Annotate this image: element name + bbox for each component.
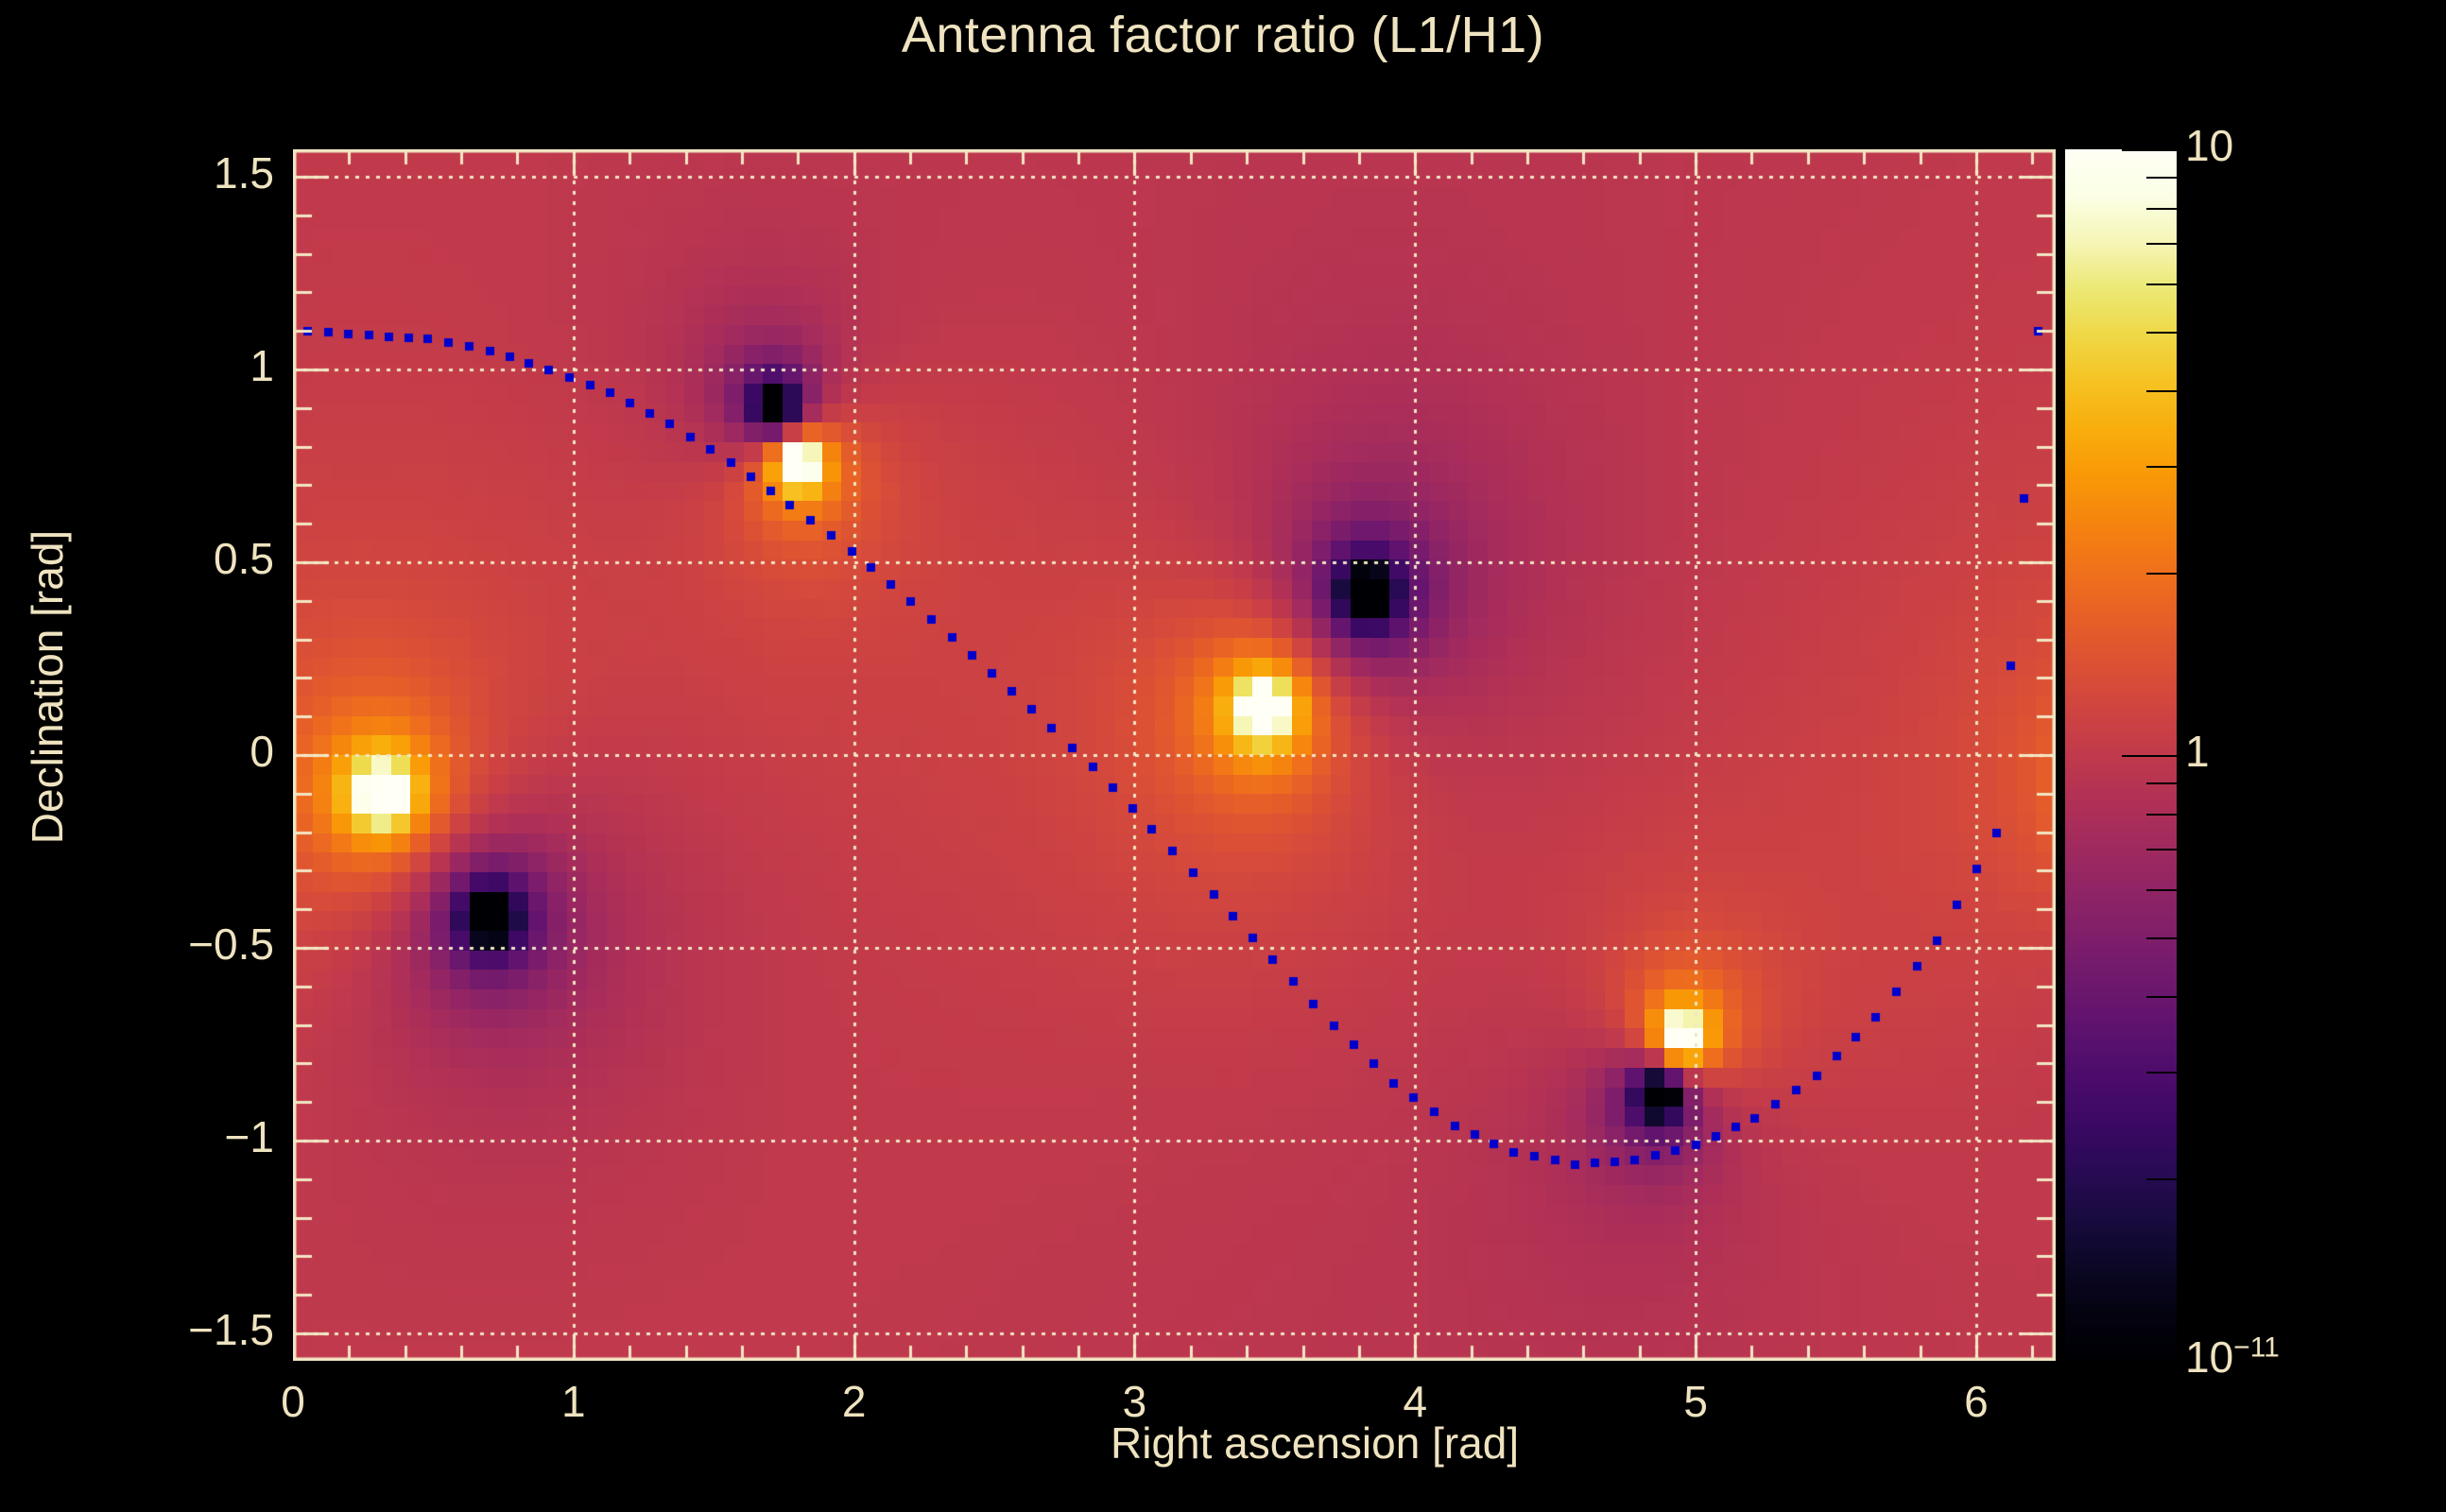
colorbar-ticks [2065,149,2177,1361]
colorbar-minor-tick [2146,466,2177,468]
colorbar-minor-tick [2146,283,2177,285]
colorbar-major-tick [2122,149,2177,151]
colorbar-minor-tick [2146,1072,2177,1074]
colorbar-minor-tick [2146,849,2177,850]
colorbar-minor-tick [2146,937,2177,939]
colorbar-minor-tick [2146,1178,2177,1180]
colorbar-minor-tick [2146,996,2177,998]
colorbar-tick-labels: 10110−11 [2185,0,2393,1512]
colorbar-minor-tick [2146,782,2177,784]
chart-root: Antenna factor ratio (L1/H1) 1.510.50−0.… [0,0,2446,1512]
colorbar-minor-tick [2146,208,2177,210]
colorbar-minor-tick [2146,177,2177,179]
x-tick-label: 1 [561,1376,586,1427]
x-tick-label: 2 [842,1376,867,1427]
colorbar-minor-tick [2146,814,2177,816]
colorbar-minor-tick [2146,889,2177,891]
colorbar-tick-label: 10−11 [2185,1332,2280,1383]
colorbar-minor-tick [2146,243,2177,245]
x-axis-title: Right ascension [rad] [1111,1417,1961,1469]
colorbar-minor-tick [2146,332,2177,334]
colorbar-minor-tick [2146,390,2177,392]
colorbar-tick-label: 10 [2185,120,2233,171]
colorbar-major-tick [2122,755,2177,757]
colorbar-major-tick [2122,1361,2177,1363]
x-tick-label: 6 [1964,1376,1989,1427]
y-axis-title: Declination [rad] [22,394,73,980]
x-tick-label: 0 [281,1376,305,1427]
colorbar-tick-label: 1 [2185,726,2210,777]
colorbar[interactable] [2065,149,2177,1361]
colorbar-minor-tick [2146,573,2177,575]
